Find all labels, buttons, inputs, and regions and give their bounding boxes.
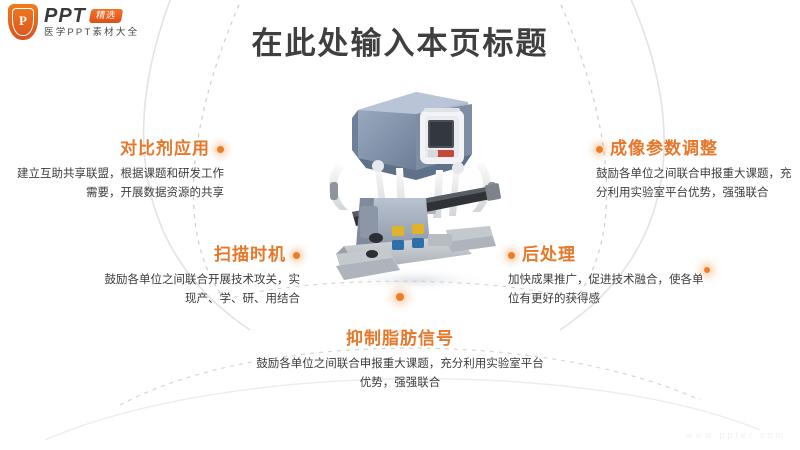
bullet-dot-icon	[508, 252, 515, 259]
text-block-contrast: 对比剂应用 建立互助共享联盟，根据课题和研发工作需要，开展数据资源的共享	[14, 140, 224, 203]
accent-dot-icon	[704, 267, 710, 273]
block-heading-scan: 扫描时机	[214, 246, 286, 265]
block-body-imaging: 鼓励各单位之间联合申报重大课题，充分利用实验室平台优势，强强联合	[596, 165, 796, 203]
machine-eyepiece	[420, 108, 464, 164]
block-heading-imaging: 成像参数调整	[610, 140, 718, 159]
block-body-fat: 鼓励各单位之间联合申报重大课题，充分利用实验室平台优势，强强联合	[255, 355, 545, 393]
block-body-scan: 鼓励各单位之间联合开展技术攻关，实现产、学、研、用结合	[95, 271, 300, 309]
block-heading-fat: 抑制脂肪信号	[255, 330, 545, 349]
accent-dot-icon	[396, 293, 404, 301]
block-body-post: 加快成果推广，促进技术融合，使各单位有更好的获得感	[508, 271, 708, 309]
block-heading-contrast: 对比剂应用	[120, 140, 210, 159]
text-block-scan: 扫描时机 鼓励各单位之间联合开展技术攻关，实现产、学、研、用结合	[95, 246, 300, 309]
bullet-dot-icon	[293, 252, 300, 259]
text-block-fat: 抑制脂肪信号 鼓励各单位之间联合申报重大课题，充分利用实验室平台优势，强强联合	[255, 330, 545, 393]
block-heading-post: 后处理	[522, 246, 576, 265]
text-block-post: 后处理 加快成果推广，促进技术融合，使各单位有更好的获得感	[508, 246, 708, 309]
page-title: 在此处输入本页标题	[0, 18, 800, 63]
bullet-dot-icon	[217, 146, 224, 153]
surgical-console-image	[296, 58, 526, 303]
text-block-imaging: 成像参数调整 鼓励各单位之间联合申报重大课题，充分利用实验室平台优势，强强联合	[596, 140, 796, 203]
block-body-contrast: 建立互助共享联盟，根据课题和研发工作需要，开展数据资源的共享	[14, 165, 224, 203]
bullet-dot-icon	[596, 146, 603, 153]
slide-canvas: P PPT 精选 医学PPT素材大全 在此处输入本页标题	[0, 0, 800, 450]
watermark: www.ppter.com	[686, 430, 786, 440]
